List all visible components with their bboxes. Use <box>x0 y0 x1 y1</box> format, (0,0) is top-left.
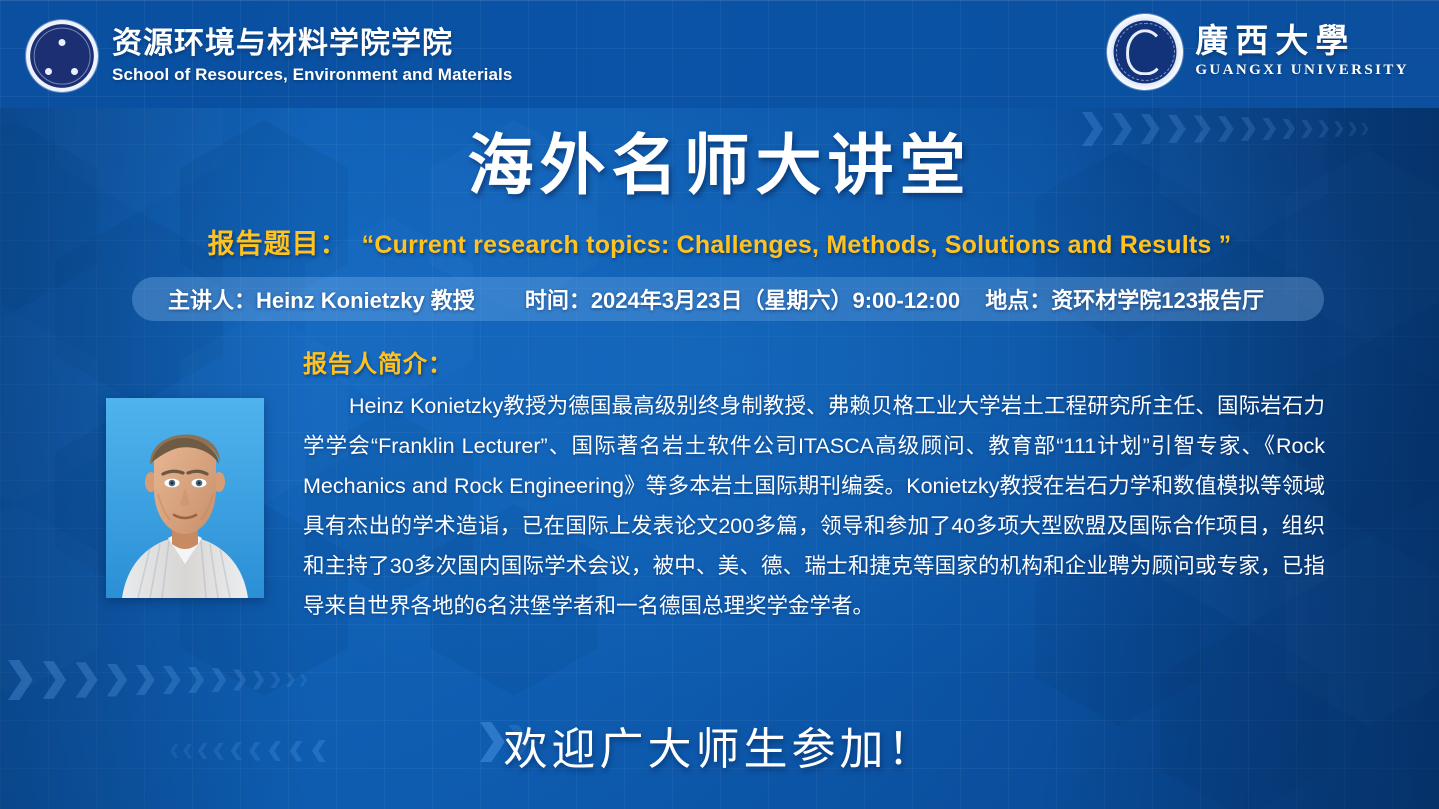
info-speaker: 主讲人：Heinz Konietzky 教授 <box>168 283 475 315</box>
info-time: 时间：2024年3月23日（星期六）9:00-12:00 <box>525 283 960 315</box>
bio-text: Heinz Konietzky教授为德国最高级别终身制教授、弗赖贝格工业大学岩土… <box>303 386 1325 626</box>
university-name-en: GUANGXI UNIVERSITY <box>1195 62 1409 79</box>
page-title: 海外名师大讲堂 <box>0 112 1439 208</box>
welcome-text: 欢迎广大师生参加！ <box>0 713 1439 777</box>
bio-heading: 报告人简介： <box>303 344 453 379</box>
school-name-en: School of Resources, Environment and Mat… <box>112 65 512 85</box>
school-logo: 资源环境与材料学院学院 School of Resources, Environ… <box>26 20 512 92</box>
portrait-illustration-icon <box>106 398 264 598</box>
university-name-cn: 廣西大學 <box>1195 25 1409 60</box>
school-name-cn: 资源环境与材料学院学院 <box>112 27 512 61</box>
speaker-portrait <box>106 398 264 598</box>
university-logo: 廣西大學 GUANGXI UNIVERSITY <box>1107 14 1409 90</box>
topic-label: 报告题目： <box>208 222 348 261</box>
guangxi-university-seal-icon <box>1107 14 1183 90</box>
topic-text: “Current research topics: Challenges, Me… <box>362 231 1232 260</box>
school-seal-icon <box>26 20 98 92</box>
event-info-bar: 主讲人：Heinz Konietzky 教授 时间：2024年3月23日（星期六… <box>132 277 1324 321</box>
info-place: 地点：资环材学院123报告厅 <box>985 283 1264 315</box>
topic-line: 报告题目： “Current research topics: Challeng… <box>0 222 1439 261</box>
chevron-strip-bottom-left <box>8 660 312 700</box>
